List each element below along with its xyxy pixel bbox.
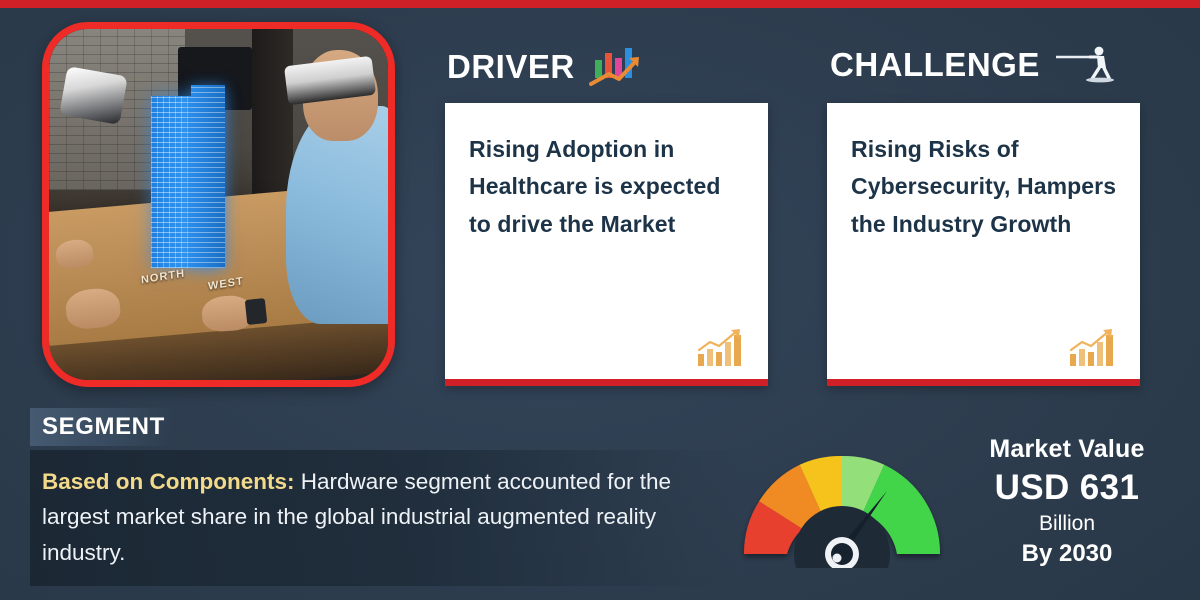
driver-card: Rising Adoption in Healthcare is expecte… bbox=[445, 103, 768, 386]
segment-lead: Based on Components: bbox=[42, 469, 295, 494]
market-value-block: Market Value USD 631 Billion By 2030 bbox=[952, 434, 1182, 569]
top-accent-bar bbox=[0, 0, 1200, 8]
hero-photo: NORTH WEST bbox=[42, 22, 395, 387]
photo-hologram-building-second bbox=[191, 85, 225, 268]
driver-header: DRIVER bbox=[447, 44, 647, 88]
gauge-needle-cap-inner bbox=[831, 543, 853, 565]
photo-wristwatch bbox=[244, 298, 267, 325]
photo-content: NORTH WEST bbox=[49, 29, 388, 380]
segment-block: SEGMENT Based on Components: Hardware se… bbox=[30, 408, 744, 586]
segment-label-band: SEGMENT bbox=[30, 408, 175, 446]
challenge-card-accent bbox=[827, 379, 1140, 386]
market-value-title: Market Value bbox=[952, 434, 1182, 465]
gauge-needle-cap-dot bbox=[833, 554, 842, 563]
market-value-unit: Billion bbox=[952, 511, 1182, 537]
bar-chart-arrow-icon bbox=[1068, 328, 1122, 368]
challenge-heading: CHALLENGE bbox=[830, 48, 1040, 81]
challenge-header: CHALLENGE bbox=[830, 44, 1116, 84]
segment-label: SEGMENT bbox=[42, 413, 165, 440]
segment-body: Based on Components: Hardware segment ac… bbox=[30, 450, 744, 587]
market-value-amount: USD 631 bbox=[952, 467, 1182, 509]
infographic-canvas: NORTH WEST DRIVER CHALLENGE bbox=[0, 0, 1200, 600]
driver-heading: DRIVER bbox=[447, 50, 575, 83]
driver-card-accent bbox=[445, 379, 768, 386]
bar-chart-growth-icon bbox=[589, 44, 647, 88]
challenge-card: Rising Risks of Cybersecurity, Hampers t… bbox=[827, 103, 1140, 386]
challenge-card-text: Rising Risks of Cybersecurity, Hampers t… bbox=[851, 131, 1118, 243]
market-value-year: By 2030 bbox=[952, 539, 1182, 569]
driver-card-text: Rising Adoption in Healthcare is expecte… bbox=[469, 131, 746, 243]
bar-chart-arrow-icon bbox=[696, 328, 750, 368]
market-gauge bbox=[736, 444, 948, 568]
tug-of-war-icon bbox=[1054, 44, 1116, 84]
